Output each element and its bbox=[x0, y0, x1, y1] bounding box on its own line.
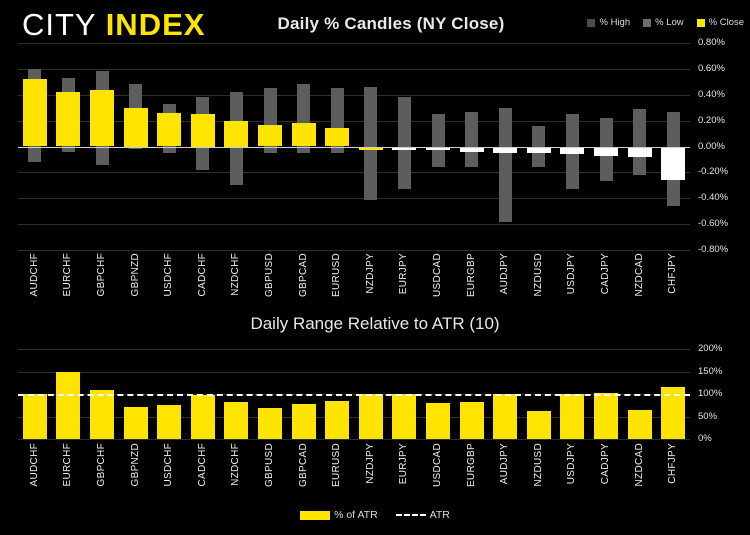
candle-body bbox=[191, 114, 215, 146]
atr-bar bbox=[493, 394, 517, 439]
atr-bar bbox=[628, 410, 652, 439]
category-label: NZDCAD bbox=[634, 443, 645, 486]
category-label: EURJPY bbox=[398, 443, 409, 484]
category-label: AUDJPY bbox=[499, 443, 510, 484]
candle-wick bbox=[364, 87, 377, 200]
bottom-chart-legend: % of ATRATR bbox=[0, 509, 750, 521]
candle-body bbox=[661, 147, 685, 181]
square-swatch-icon bbox=[300, 511, 330, 520]
legend-label: % of ATR bbox=[334, 509, 378, 521]
candle-wick bbox=[633, 109, 646, 175]
category-label: GBPCAD bbox=[298, 443, 309, 487]
dashboard-root: CITY INDEX Daily % Candles (NY Close) % … bbox=[0, 0, 750, 535]
gridline bbox=[18, 372, 690, 373]
y-axis-tick: 0% bbox=[698, 434, 712, 444]
y-axis-tick: -0.80% bbox=[698, 245, 728, 255]
y-axis-tick: 0.60% bbox=[698, 64, 725, 74]
candle-wick bbox=[499, 108, 512, 222]
atr-bar bbox=[460, 402, 484, 439]
y-axis-tick: 100% bbox=[698, 389, 722, 399]
atr-bar bbox=[23, 394, 47, 439]
atr-bar bbox=[392, 394, 416, 439]
gridline bbox=[18, 417, 690, 418]
category-label: USDCHF bbox=[163, 443, 174, 486]
gridline bbox=[18, 349, 690, 350]
candle-body bbox=[258, 125, 282, 147]
legend-item-close: % Close bbox=[697, 17, 744, 28]
candle-wick bbox=[465, 112, 478, 168]
category-label: NZDJPY bbox=[365, 443, 376, 484]
category-label: EURCHF bbox=[62, 443, 73, 486]
legend-item-atr: ATR bbox=[396, 509, 450, 521]
candle-body bbox=[224, 121, 248, 147]
y-axis-tick: 0.80% bbox=[698, 38, 725, 48]
dashed-line-icon bbox=[396, 514, 426, 516]
category-label: CADCHF bbox=[197, 443, 208, 486]
atr-bar bbox=[90, 390, 114, 439]
atr-bar bbox=[560, 394, 584, 439]
candle-body bbox=[56, 92, 80, 146]
candle-wick bbox=[398, 97, 411, 189]
candle-body bbox=[157, 113, 181, 147]
atr-bar bbox=[224, 402, 248, 439]
y-axis-tick: 50% bbox=[698, 412, 717, 422]
category-label: NZDCHF bbox=[230, 443, 241, 486]
y-axis-tick: 150% bbox=[698, 367, 722, 377]
category-label: USDJPY bbox=[566, 443, 577, 484]
atr-bar bbox=[157, 405, 181, 439]
candle-body bbox=[628, 147, 652, 157]
candle-body bbox=[292, 123, 316, 146]
y-axis-tick: 0.40% bbox=[698, 90, 725, 100]
y-axis-tick: 0.00% bbox=[698, 142, 725, 152]
category-label: GBPCHF bbox=[96, 443, 107, 486]
candle-body bbox=[90, 90, 114, 147]
candle-body bbox=[23, 79, 47, 146]
atr-bar bbox=[258, 408, 282, 439]
atr-bar bbox=[426, 403, 450, 439]
atr-bar bbox=[325, 401, 349, 439]
category-label: CADJPY bbox=[600, 443, 611, 484]
atr-bar bbox=[527, 411, 551, 439]
y-axis-tick: -0.60% bbox=[698, 219, 728, 229]
candle-body bbox=[594, 147, 618, 156]
category-label: AUDCHF bbox=[29, 443, 40, 486]
y-axis-tick: -0.20% bbox=[698, 167, 728, 177]
atr-bar bbox=[292, 404, 316, 439]
category-label: USDCAD bbox=[432, 443, 443, 487]
zero-line bbox=[18, 147, 690, 148]
atr-bar bbox=[359, 394, 383, 439]
daily-range-atr-chart: 200%150%100%50%0% bbox=[18, 0, 690, 535]
candle-body bbox=[124, 108, 148, 147]
category-label: GBPUSD bbox=[264, 443, 275, 487]
y-axis-tick: -0.40% bbox=[698, 193, 728, 203]
atr-bar bbox=[56, 372, 80, 440]
y-axis-tick: 200% bbox=[698, 344, 722, 354]
atr-reference-line bbox=[18, 394, 690, 396]
y-axis-tick: 0.20% bbox=[698, 116, 725, 126]
candle-wick bbox=[432, 114, 445, 167]
category-label: EURGBP bbox=[466, 443, 477, 487]
category-label: CHFJPY bbox=[667, 443, 678, 484]
candle-body bbox=[560, 147, 584, 155]
gridline bbox=[18, 439, 690, 440]
legend-label: ATR bbox=[430, 509, 450, 521]
atr-bar bbox=[594, 393, 618, 439]
category-label: NZDUSD bbox=[533, 443, 544, 486]
atr-bar bbox=[191, 395, 215, 439]
legend-label: % Close bbox=[709, 17, 744, 28]
category-label: GBPNZD bbox=[130, 443, 141, 486]
atr-bar bbox=[124, 407, 148, 439]
candle-body bbox=[325, 128, 349, 146]
square-swatch-icon bbox=[697, 19, 705, 27]
category-label: EURUSD bbox=[331, 443, 342, 487]
legend-item-of-atr: % of ATR bbox=[300, 509, 378, 521]
